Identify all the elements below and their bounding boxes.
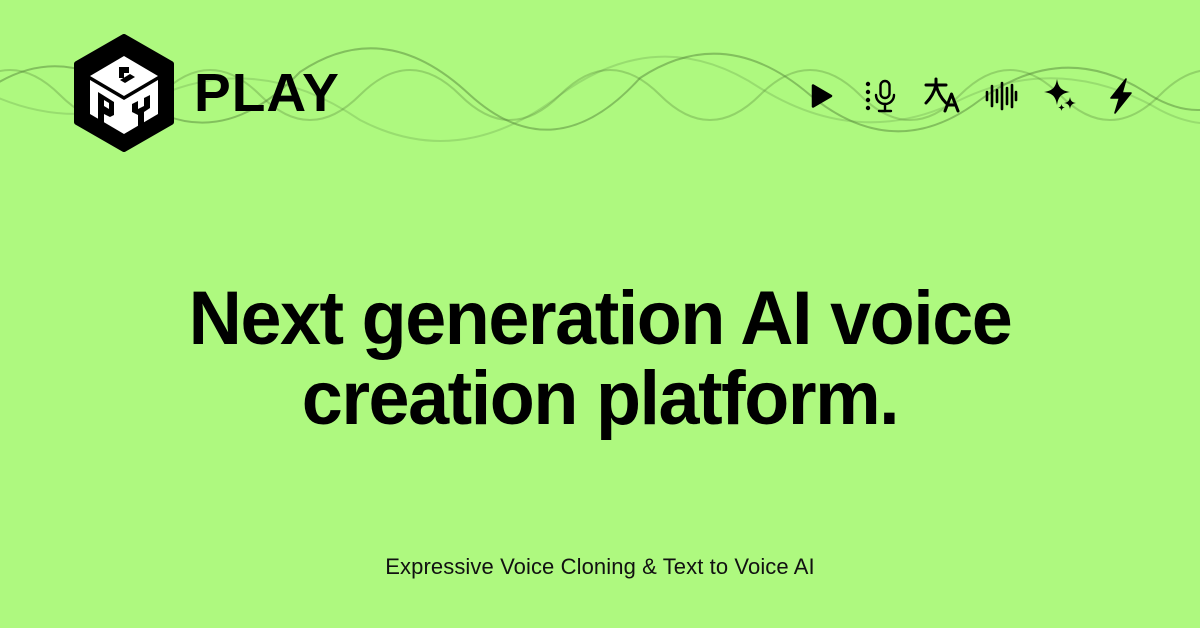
hero-headline: Next generation AI voice creation platfo… bbox=[0, 279, 1200, 439]
hero-headline-line-2: creation platform. bbox=[18, 359, 1182, 439]
hero-subtitle: Expressive Voice Cloning & Text to Voice… bbox=[0, 553, 1200, 581]
promo-banner: PLAY bbox=[0, 0, 1200, 628]
waveform-icon[interactable] bbox=[978, 73, 1024, 119]
play-icon[interactable] bbox=[798, 73, 844, 119]
brand-wordmark: PLAY bbox=[194, 66, 340, 120]
translate-icon[interactable] bbox=[918, 73, 964, 119]
lightning-bolt-icon[interactable] bbox=[1098, 73, 1144, 119]
microphone-icon[interactable] bbox=[858, 73, 904, 119]
sparkle-icon[interactable] bbox=[1038, 73, 1084, 119]
brand-logo-lockup[interactable]: PLAY bbox=[70, 34, 337, 152]
feature-icon-row bbox=[798, 70, 1144, 122]
play-cube-logo-icon bbox=[70, 34, 178, 152]
hero-headline-line-1: Next generation AI voice bbox=[18, 279, 1182, 359]
